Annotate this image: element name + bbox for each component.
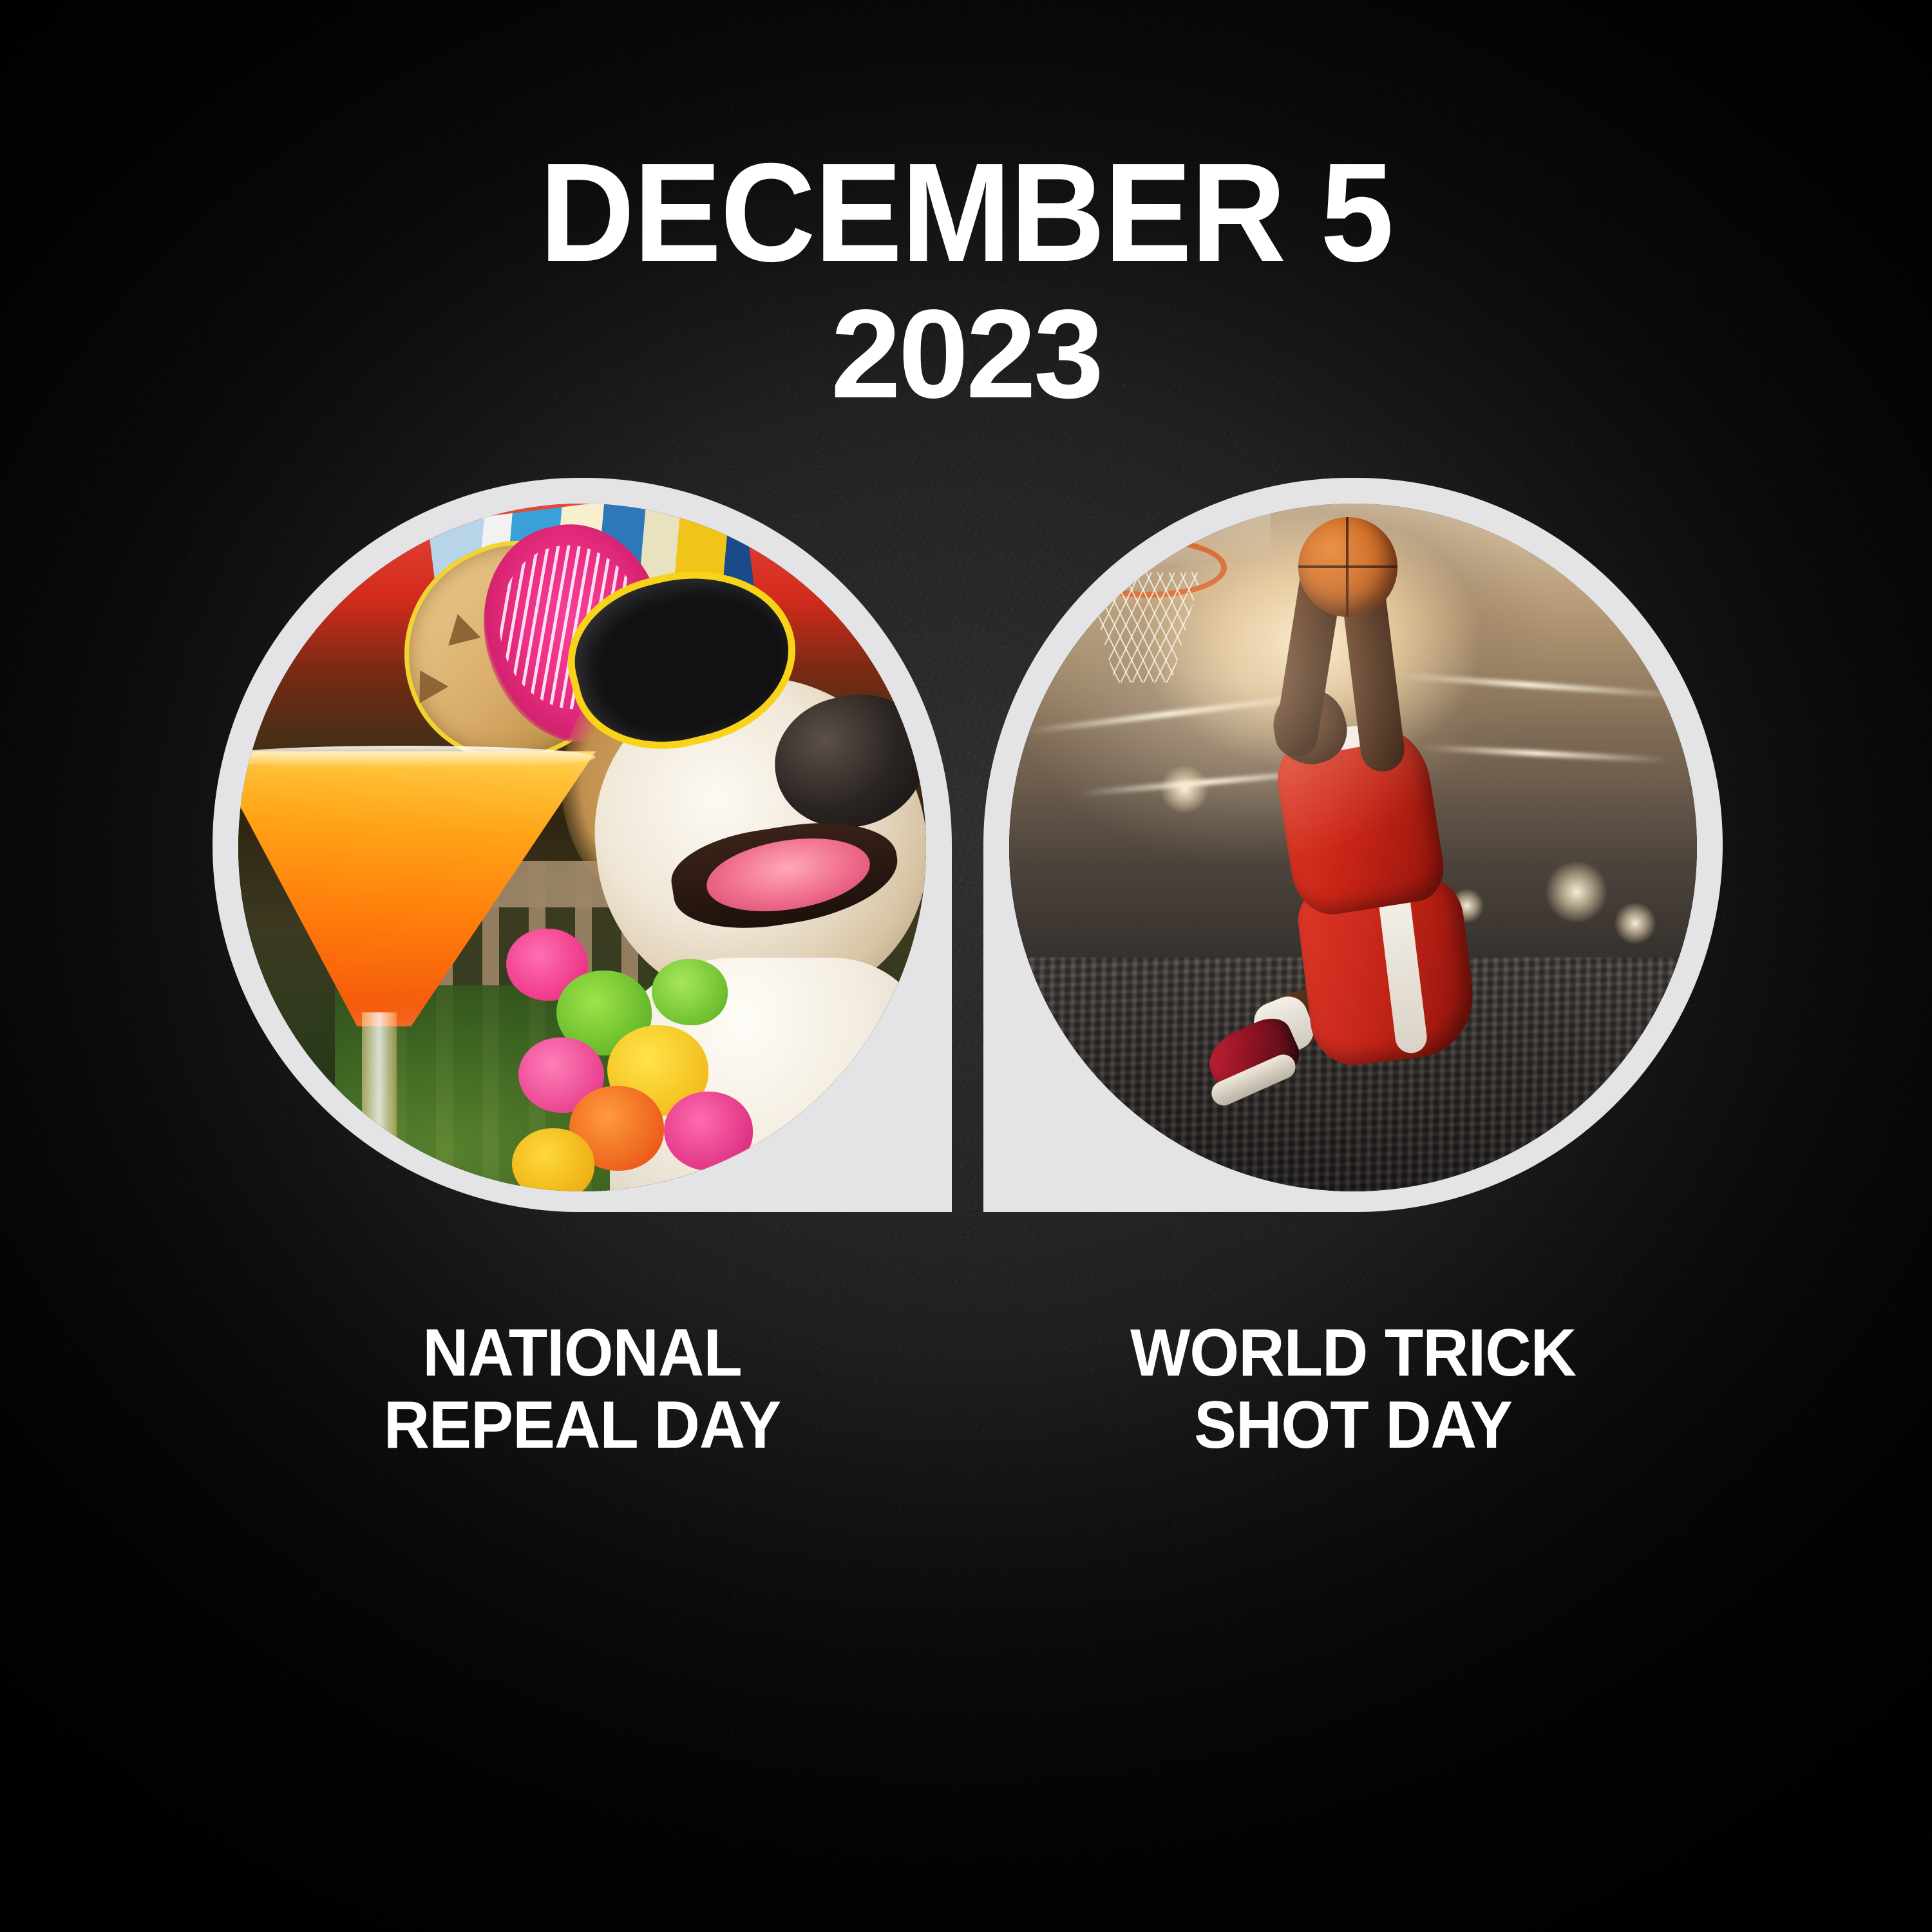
holiday-poster: DECEMBER 5 2023 xyxy=(0,0,1932,1932)
caption-line-2: REPEAL DAY xyxy=(231,1389,934,1461)
spotlight-icon xyxy=(1160,765,1209,813)
basketball-dunk-illustration xyxy=(1009,504,1697,1191)
caption-national-repeal-day: NATIONAL REPEAL DAY xyxy=(231,1317,934,1462)
spotlight-icon xyxy=(1615,902,1656,943)
title-year: 2023 xyxy=(0,283,1932,425)
caption-world-trick-shot-day: WORLD TRICK SHOT DAY xyxy=(1002,1317,1705,1462)
card-image-national-repeal-day xyxy=(238,504,926,1191)
basketball-icon xyxy=(1298,517,1398,617)
dog-cocktail-illustration xyxy=(238,504,926,1191)
title-date: DECEMBER 5 xyxy=(58,143,1874,283)
cocktail-stem-icon xyxy=(362,1012,396,1150)
caption-line-2: SHOT DAY xyxy=(1002,1389,1705,1461)
caption-line-1: NATIONAL xyxy=(231,1317,934,1389)
holiday-card-row xyxy=(213,478,1723,1212)
holiday-card-world-trick-shot-day[interactable] xyxy=(983,478,1723,1212)
page-title: DECEMBER 5 2023 xyxy=(0,143,1932,425)
flower-lei-icon xyxy=(500,916,816,1191)
caption-line-1: WORLD TRICK xyxy=(1002,1317,1705,1389)
spotlight-icon xyxy=(1546,861,1607,923)
card-image-world-trick-shot-day xyxy=(1009,504,1697,1191)
holiday-card-national-repeal-day[interactable] xyxy=(213,478,952,1212)
